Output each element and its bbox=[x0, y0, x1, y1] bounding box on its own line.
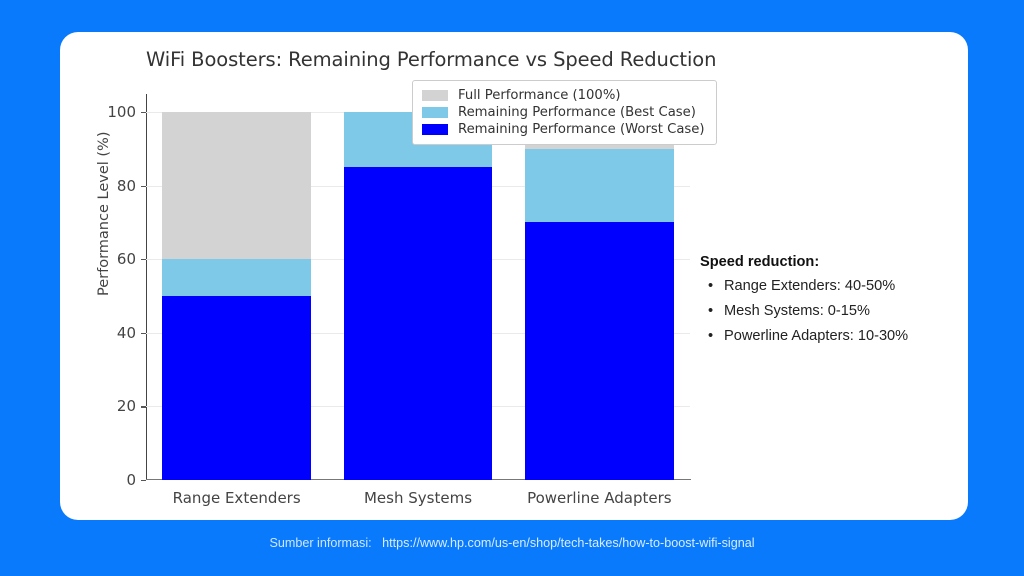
y-tick-label: 40 bbox=[117, 324, 136, 342]
legend-item[interactable]: Remaining Performance (Worst Case) bbox=[422, 121, 705, 138]
y-tick-mark bbox=[141, 406, 146, 407]
annotation-list: Range Extenders: 40-50%Mesh Systems: 0-1… bbox=[700, 274, 962, 349]
bar-segment[interactable] bbox=[162, 296, 311, 480]
y-tick-label: 0 bbox=[126, 471, 136, 489]
y-tick-mark bbox=[141, 112, 146, 113]
y-tick-label: 60 bbox=[117, 250, 136, 268]
y-tick-label: 80 bbox=[117, 177, 136, 195]
source-label: Sumber informasi: bbox=[269, 536, 371, 550]
legend-swatch bbox=[422, 90, 448, 101]
y-tick-mark bbox=[141, 480, 146, 481]
y-tick-mark bbox=[141, 333, 146, 334]
y-axis-label: Performance Level (%) bbox=[96, 132, 112, 296]
bar-column[interactable] bbox=[344, 112, 493, 480]
annotation-item: Range Extenders: 40-50% bbox=[700, 274, 962, 299]
plot-area: 020406080100 Range ExtendersMesh Systems… bbox=[146, 112, 690, 480]
bar-segment[interactable] bbox=[525, 222, 674, 480]
legend-label: Remaining Performance (Best Case) bbox=[458, 105, 696, 120]
x-tick-label: Powerline Adapters bbox=[527, 489, 672, 507]
chart-title: WiFi Boosters: Remaining Performance vs … bbox=[146, 48, 706, 71]
y-axis-spine bbox=[146, 94, 147, 480]
bar-segment[interactable] bbox=[344, 167, 493, 480]
legend-item[interactable]: Remaining Performance (Best Case) bbox=[422, 104, 705, 121]
y-tick-label: 20 bbox=[117, 397, 136, 415]
y-tick-mark bbox=[141, 186, 146, 187]
legend-label: Remaining Performance (Worst Case) bbox=[458, 122, 705, 137]
chart-legend: Full Performance (100%)Remaining Perform… bbox=[412, 80, 717, 145]
chart-figure: WiFi Boosters: Remaining Performance vs … bbox=[60, 32, 968, 520]
legend-label: Full Performance (100%) bbox=[458, 88, 621, 103]
legend-item[interactable]: Full Performance (100%) bbox=[422, 87, 705, 104]
plot-inner: 020406080100 Range ExtendersMesh Systems… bbox=[146, 112, 690, 480]
x-tick-label: Mesh Systems bbox=[364, 489, 472, 507]
annotation-item: Powerline Adapters: 10-30% bbox=[700, 324, 962, 349]
source-footer: Sumber informasi: https://www.hp.com/us-… bbox=[0, 536, 1024, 550]
annotation-item: Mesh Systems: 0-15% bbox=[700, 299, 962, 324]
source-url[interactable]: https://www.hp.com/us-en/shop/tech-takes… bbox=[382, 536, 754, 550]
y-tick-mark bbox=[141, 259, 146, 260]
slide-canvas: WiFi Boosters: Remaining Performance vs … bbox=[0, 0, 1024, 576]
speed-reduction-annotation: Speed reduction: Range Extenders: 40-50%… bbox=[700, 254, 962, 349]
bar-column[interactable] bbox=[525, 112, 674, 480]
chart-card: WiFi Boosters: Remaining Performance vs … bbox=[60, 32, 968, 520]
y-tick-label: 100 bbox=[107, 103, 136, 121]
annotation-heading: Speed reduction: bbox=[700, 254, 962, 270]
x-tick-label: Range Extenders bbox=[173, 489, 301, 507]
legend-swatch bbox=[422, 124, 448, 135]
bar-column[interactable] bbox=[162, 112, 311, 480]
legend-swatch bbox=[422, 107, 448, 118]
